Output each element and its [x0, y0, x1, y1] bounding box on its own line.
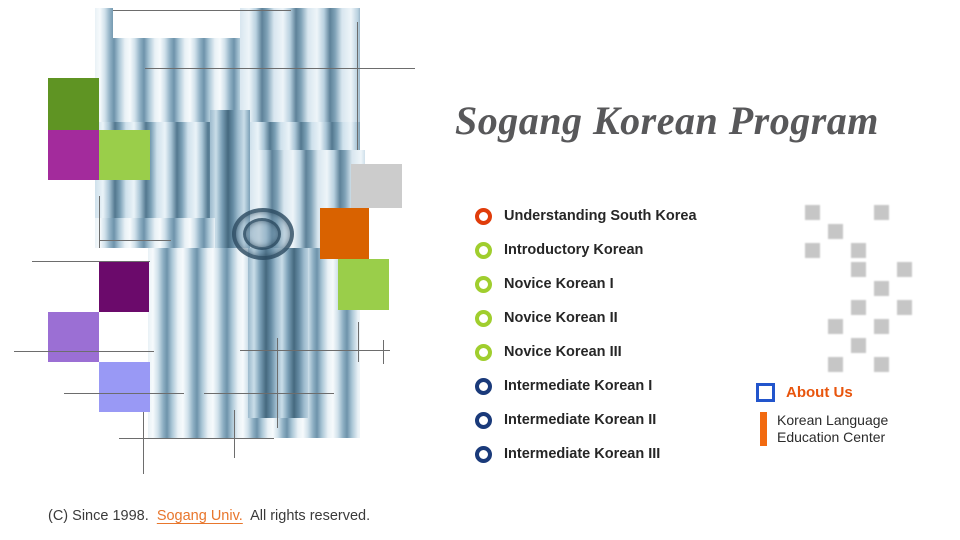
sogang-univ-link[interactable]: Sogang Univ.: [157, 508, 243, 524]
menu-item-label: Introductory Korean: [504, 242, 643, 258]
door-texture: [95, 218, 215, 248]
menu-item-intermediate-5[interactable]: Intermediate Korean I: [475, 369, 775, 403]
rule-line: [64, 393, 184, 394]
about-us-label: About Us: [786, 384, 853, 401]
about-block: About Us Korean Language Education Cente…: [756, 383, 888, 446]
rule-line: [204, 393, 334, 394]
menu-item-novice-4[interactable]: Novice Korean III: [475, 335, 775, 369]
door-photo-midband: [95, 218, 215, 248]
pattern-square: [874, 319, 889, 334]
menu-item-introductory-1[interactable]: Introductory Korean: [475, 233, 775, 267]
menu-item-novice-3[interactable]: Novice Korean II: [475, 301, 775, 335]
course-menu: Understanding South KoreaIntroductory Ko…: [475, 199, 775, 471]
menu-item-label: Novice Korean I: [504, 276, 614, 292]
overlay-square-orange: [320, 208, 369, 259]
overlay-square-green: [48, 78, 99, 130]
rule-line: [32, 261, 150, 262]
page-title: Sogang Korean Program: [455, 97, 879, 144]
pattern-square: [851, 262, 866, 277]
center-name-label: Korean Language Education Center: [777, 412, 888, 446]
hero-collage: [0, 0, 440, 500]
pattern-square: [828, 357, 843, 372]
circle-bullet-icon: [475, 242, 492, 259]
pattern-square: [874, 205, 889, 220]
circle-bullet-icon: [475, 208, 492, 225]
door-texture: [95, 8, 113, 42]
footer-suffix: All rights reserved.: [250, 508, 370, 524]
rule-line: [240, 350, 390, 351]
pattern-square: [805, 243, 820, 258]
center-name-row: Korean Language Education Center: [756, 412, 888, 446]
rule-line: [358, 322, 359, 362]
circle-bullet-icon: [475, 378, 492, 395]
square-outline-icon: [756, 383, 775, 402]
overlay-square-periwinkle: [99, 362, 150, 412]
gray-squares-pattern: [805, 205, 905, 375]
rule-line: [99, 196, 100, 248]
overlay-square-lime: [338, 259, 389, 310]
overlay-square-purple: [48, 312, 99, 362]
footer-prefix: (C) Since 1998.: [48, 508, 149, 524]
circle-bullet-icon: [475, 446, 492, 463]
menu-item-novice-2[interactable]: Novice Korean I: [475, 267, 775, 301]
pattern-square: [897, 300, 912, 315]
rule-line: [234, 410, 235, 458]
door-photo-top-sliver: [95, 8, 113, 42]
circle-bullet-icon: [475, 344, 492, 361]
rule-line: [113, 10, 291, 11]
pattern-square: [851, 300, 866, 315]
pattern-square: [828, 319, 843, 334]
rule-line: [383, 340, 384, 364]
menu-item-label: Understanding South Korea: [504, 208, 697, 224]
rule-line: [143, 412, 144, 474]
rule-line: [145, 68, 415, 69]
about-us-link[interactable]: About Us: [756, 383, 888, 402]
orange-bar-icon: [760, 412, 767, 446]
rule-line: [119, 438, 274, 439]
pattern-square: [897, 262, 912, 277]
circle-bullet-icon: [475, 412, 492, 429]
menu-item-label: Intermediate Korean I: [504, 378, 652, 394]
pattern-square: [874, 281, 889, 296]
pattern-square: [851, 243, 866, 258]
rule-line: [357, 22, 358, 150]
pattern-square: [805, 205, 820, 220]
pattern-square: [874, 357, 889, 372]
circle-bullet-icon: [475, 276, 492, 293]
overlay-square-dark-purple: [99, 262, 149, 312]
rule-line: [14, 351, 154, 352]
menu-item-label: Novice Korean III: [504, 344, 622, 360]
menu-item-intermediate-7[interactable]: Intermediate Korean III: [475, 437, 775, 471]
circle-bullet-icon: [475, 310, 492, 327]
overlay-square-gray: [351, 164, 402, 208]
overlay-square-light-green: [99, 130, 150, 180]
menu-item-culture-0[interactable]: Understanding South Korea: [475, 199, 775, 233]
menu-item-intermediate-6[interactable]: Intermediate Korean II: [475, 403, 775, 437]
footer: (C) Since 1998. Sogang Univ. All rights …: [48, 508, 370, 524]
menu-item-label: Novice Korean II: [504, 310, 618, 326]
menu-item-label: Intermediate Korean II: [504, 412, 656, 428]
menu-item-label: Intermediate Korean III: [504, 446, 660, 462]
rule-line: [99, 240, 171, 241]
overlay-square-magenta: [48, 130, 99, 180]
pattern-square: [851, 338, 866, 353]
rule-line: [277, 338, 278, 428]
pattern-square: [828, 224, 843, 239]
door-ring-handle-inner-icon: [243, 218, 281, 250]
